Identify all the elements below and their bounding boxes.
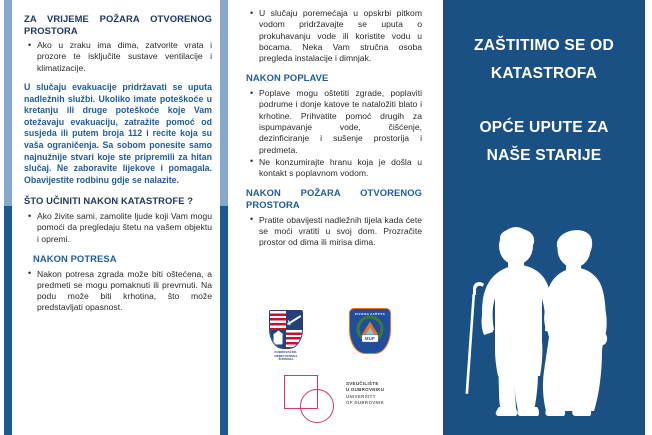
cover-title-line: ZAŠTITIMO SE OD: [443, 32, 645, 60]
bullet-list-fire-during: Ako u zraku ima dima, zatvorite vrata i …: [24, 40, 212, 74]
cover-title-line: KATASTROFA: [443, 60, 645, 88]
section-heading-fire-during: ZA VRIJEME POŽARA OTVORENOG PROSTORA: [24, 13, 212, 36]
red-white-stripes: [270, 311, 286, 330]
inner-triangle-icon: [366, 328, 374, 335]
brochure-column-2: U slučaju poremećaja u opskrbi pitkom vo…: [246, 0, 422, 257]
fold-stripe-middle-lower: [220, 206, 228, 435]
cover-subtitle-line: NAŠE STARIJE: [443, 142, 645, 170]
fold-stripe-left-lower: [4, 206, 12, 435]
emphasis-paragraph-evacuation: U slučaju evakuacije pridržavati se uput…: [24, 82, 212, 186]
county-coat-of-arms-logo: DUBROVAČKO- NERETVANSKA ŽUPANIJA: [266, 310, 306, 362]
quarter-tower: [270, 330, 286, 349]
bullet-list-after-disaster: Ako živite sami, zamolite ljude koji Vam…: [24, 211, 212, 245]
fold-stripe-left-upper: [4, 0, 12, 206]
university-logo-text: SVEUČILIŠTE U DUBROVNIKU UNIVERSITY OF D…: [346, 381, 384, 407]
brochure-column-1: ZA VRIJEME POŽARA OTVORENOG PROSTORA Ako…: [24, 0, 212, 322]
civil-protection-logo: CIVILNA ZAŠTITA MUP: [349, 308, 391, 354]
list-item: Ne konzumirajte hranu koja je došla u ko…: [259, 157, 422, 180]
title-spacer: [443, 88, 645, 114]
section-heading-after-disaster: ŠTO UČINITI NAKON KATASTROFE ?: [24, 195, 212, 207]
brochure-page: ZA VRIJEME POŽARA OTVORENOG PROSTORA Ako…: [0, 0, 652, 435]
quarter-stripes-1: [270, 311, 286, 330]
circle-shape-icon: [300, 389, 334, 423]
university-mark-icon: [284, 375, 336, 423]
sword-icon: [287, 315, 301, 325]
shield-icon: [269, 310, 303, 349]
quarter-sword: [286, 311, 302, 330]
university-of-dubrovnik-logo: SVEUČILIŠTE U DUBROVNIKU UNIVERSITY OF D…: [284, 373, 429, 425]
fold-stripe-middle-upper: [220, 0, 228, 206]
bullet-list-after-earthquake: Nakon potresa zgrada može biti oštećena,…: [24, 269, 212, 314]
logo-row: DUBROVAČKO- NERETVANSKA ŽUPANIJA CIVILNA…: [246, 307, 426, 432]
list-item: Pratite obavijesti nadležnih tijela kada…: [259, 215, 422, 249]
university-name-line: U DUBROVNIKU: [346, 387, 384, 393]
list-item: Ako u zraku ima dima, zatvorite vrata i …: [37, 40, 212, 74]
list-item: Nakon potresa zgrada može biti oštećena,…: [37, 269, 212, 314]
logo-shields: DUBROVAČKO- NERETVANSKA ŽUPANIJA CIVILNA…: [246, 307, 426, 369]
badge-icon: CIVILNA ZAŠTITA MUP: [349, 308, 391, 354]
fold-stripe-left: [4, 0, 12, 435]
cover-panel: ZAŠTITIMO SE OD KATASTROFA OPĆE UPUTE ZA…: [443, 0, 645, 435]
caption-line: ŽUPANIJA: [266, 358, 306, 362]
list-item: Poplave mogu oštetiti zgrade, poplaviti …: [259, 88, 422, 156]
elderly-couple-silhouette-icon: [456, 221, 632, 421]
bullet-list-after-flood: Poplave mogu oštetiti zgrade, poplaviti …: [246, 88, 422, 179]
list-item: U slučaju poremećaja u opskrbi pitkom vo…: [259, 8, 422, 64]
civil-protection-center-text: MUP: [362, 335, 378, 341]
section-heading-after-wildfire: NAKON POŽARA OTVORENOG PROSTORA: [246, 187, 422, 210]
section-heading-after-flood: NAKON POPLAVE: [246, 72, 422, 84]
list-item: Ako živite sami, zamolite ljude koji Vam…: [37, 211, 212, 245]
bullet-list-after-wildfire: Pratite obavijesti nadležnih tijela kada…: [246, 215, 422, 249]
cover-subtitle-line: OPĆE UPUTE ZA: [443, 114, 645, 142]
county-logo-caption: DUBROVAČKO- NERETVANSKA ŽUPANIJA: [266, 351, 306, 362]
quarter-stripes-2: [286, 330, 302, 349]
university-name-line-en: OF DUBROVNIK: [346, 400, 384, 406]
fold-stripe-middle: [220, 0, 228, 435]
tower-icon: [274, 334, 283, 345]
cover-title-block: ZAŠTITIMO SE OD KATASTROFA OPĆE UPUTE ZA…: [443, 32, 645, 170]
red-white-stripes: [286, 330, 302, 349]
bullet-list-water-supply: U slučaju poremećaja u opskrbi pitkom vo…: [246, 8, 422, 64]
section-heading-after-earthquake: NAKON POTRESA: [33, 253, 212, 265]
